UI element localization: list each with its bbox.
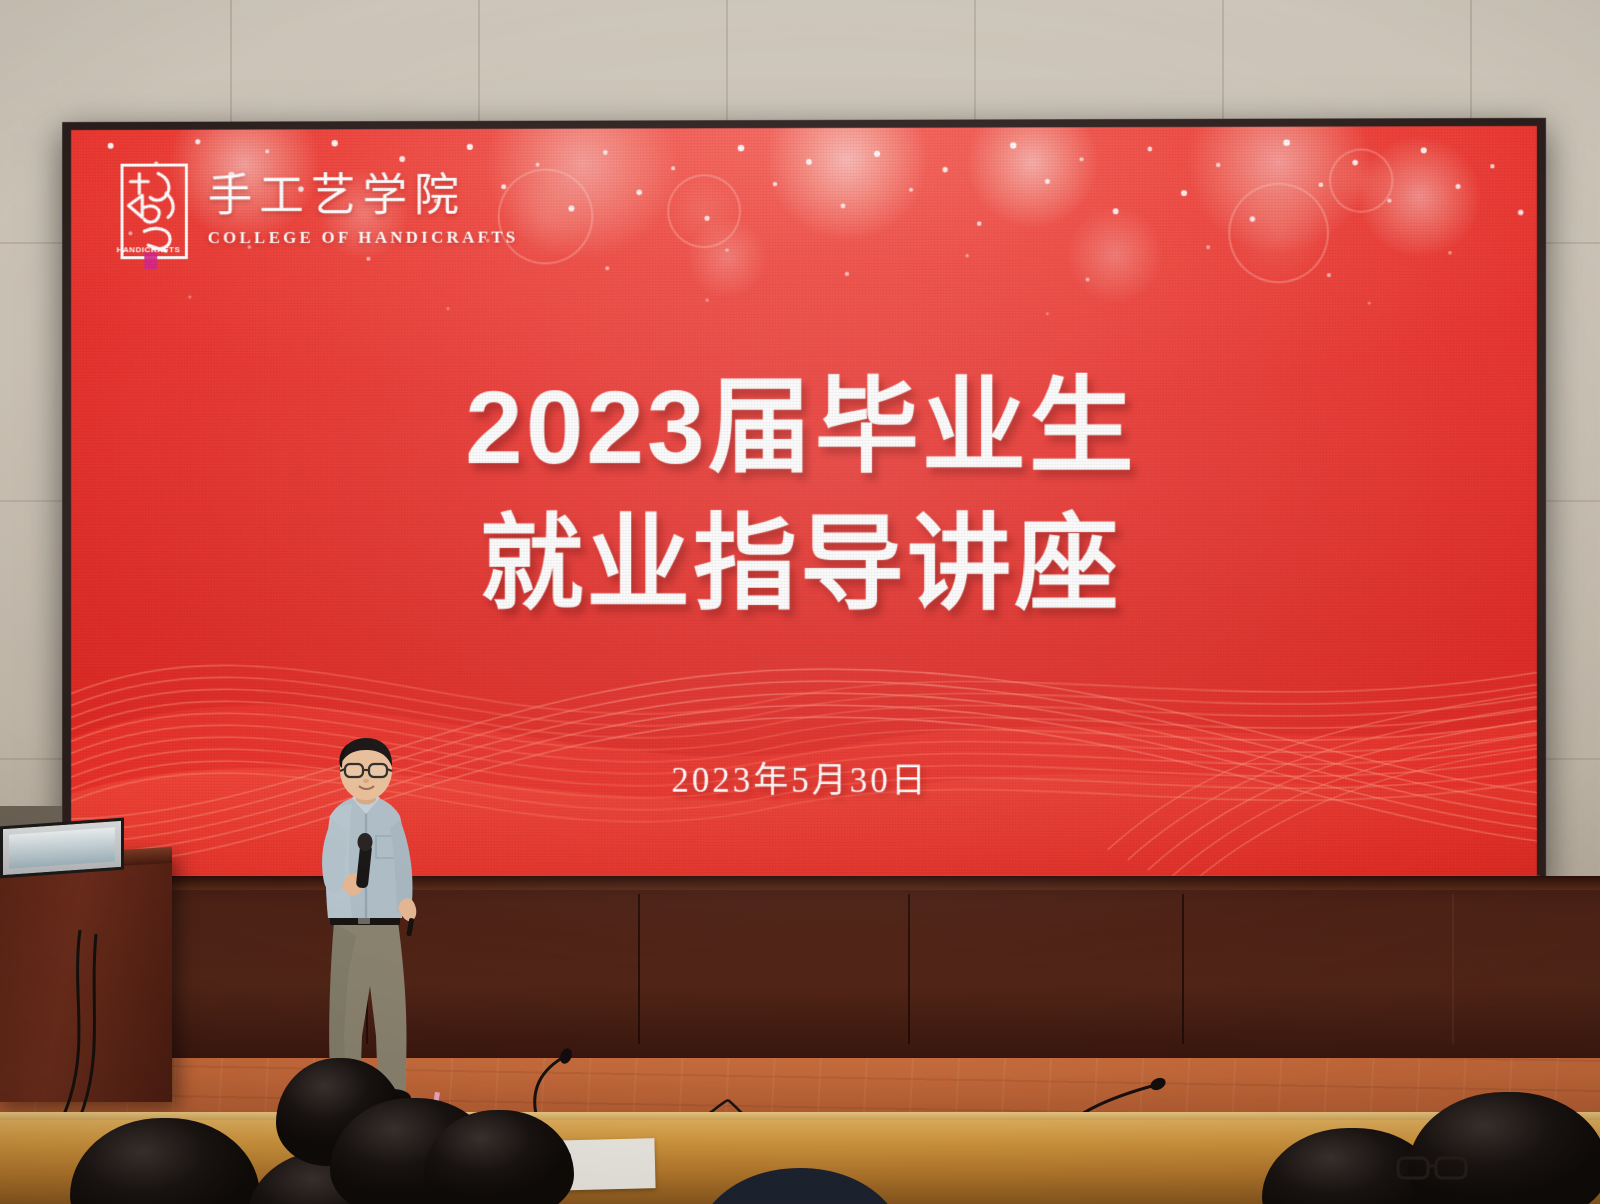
scene-vignette: [0, 0, 1600, 1204]
photo-scene: HANDICRAFTS 手工艺学院 COLLEGE OF HANDICRAFTS…: [0, 0, 1600, 1204]
